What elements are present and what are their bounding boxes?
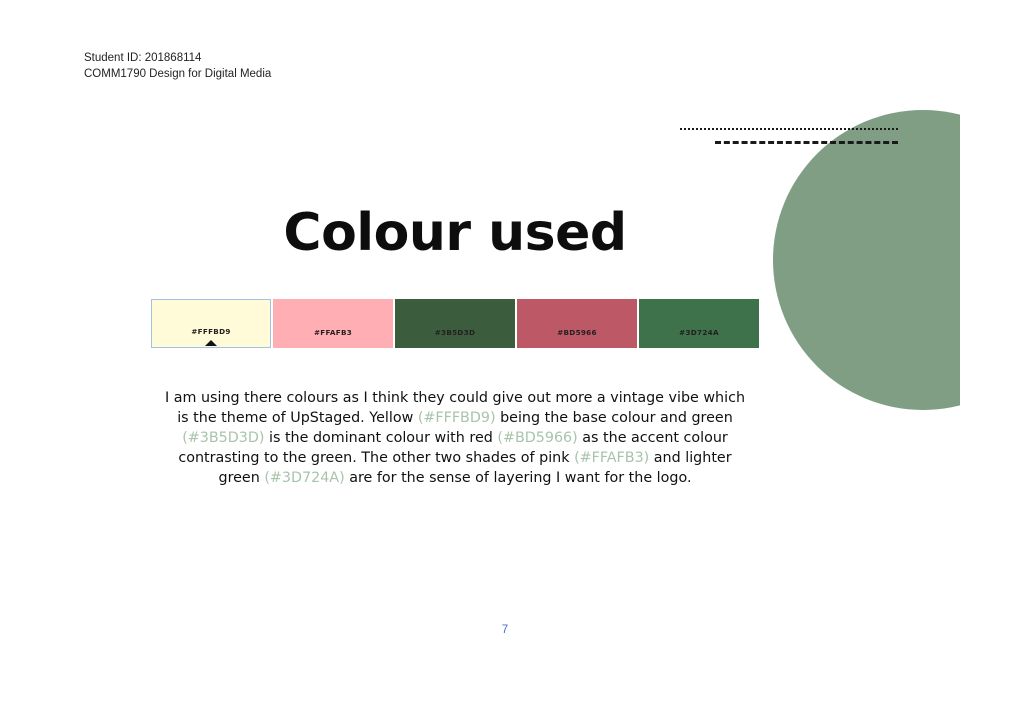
swatch-hex-label: #FFAFB3 <box>314 328 352 348</box>
page-number: 7 <box>0 624 1010 636</box>
paragraph-text-run: is the dominant colour with red <box>264 430 497 446</box>
colour-swatch[interactable]: #FFFBD9 <box>151 299 271 348</box>
inline-hex-code: (#BD5966) <box>497 430 577 446</box>
colour-swatch[interactable]: #3B5D3D <box>395 299 515 348</box>
dotted-rule-line <box>680 128 898 130</box>
paragraph-text-run: being the base colour and green <box>496 410 733 426</box>
inline-hex-code: (#FFAFB3) <box>574 450 649 466</box>
swatch-hex-label: #3B5D3D <box>435 328 476 348</box>
student-id-line: Student ID: 201868114 <box>84 50 271 66</box>
colour-swatch[interactable]: #FFAFB3 <box>273 299 393 348</box>
page-title: Colour used <box>0 203 910 263</box>
inline-hex-code: (#3B5D3D) <box>182 430 264 446</box>
paragraph-text-run: are for the sense of layering I want for… <box>345 470 692 486</box>
body-paragraph: I am using there colours as I think they… <box>165 388 745 488</box>
inline-hex-code: (#FFFBD9) <box>418 410 496 426</box>
dashed-rule-line <box>715 141 898 144</box>
colour-swatch[interactable]: #BD5966 <box>517 299 637 348</box>
swatch-hex-label: #BD5966 <box>557 328 597 348</box>
swatch-hex-label: #3D724A <box>679 328 719 348</box>
document-header: Student ID: 201868114 COMM1790 Design fo… <box>84 50 271 82</box>
colour-palette-strip: #FFFBD9#FFAFB3#3B5D3D#BD5966#3D724A <box>151 299 759 348</box>
selected-swatch-marker-icon <box>205 340 217 346</box>
course-line: COMM1790 Design for Digital Media <box>84 66 271 82</box>
colour-swatch[interactable]: #3D724A <box>639 299 759 348</box>
inline-hex-code: (#3D724A) <box>264 470 344 486</box>
